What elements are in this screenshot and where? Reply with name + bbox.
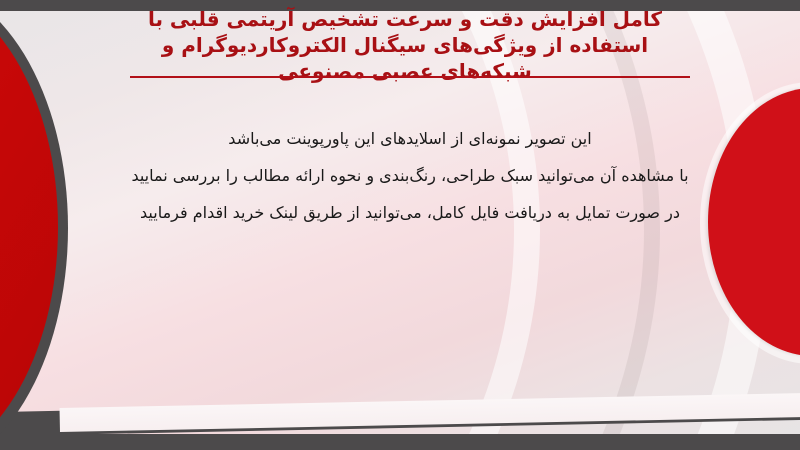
body-line-2: با مشاهده آن می‌توانید سبک طراحی، رنگ‌بن…	[60, 157, 760, 194]
slide-canvas: کامل افزایش دقت و سرعت تشخیص آریتمی قلبی…	[0, 0, 800, 450]
slide-title: کامل افزایش دقت و سرعت تشخیص آریتمی قلبی…	[60, 6, 750, 84]
title-line-1: کامل افزایش دقت و سرعت تشخیص آریتمی قلبی…	[60, 6, 750, 32]
slide-body: این تصویر نمونه‌ای از اسلایدهای این پاور…	[60, 120, 760, 231]
body-line-1: این تصویر نمونه‌ای از اسلایدهای این پاور…	[60, 120, 760, 157]
title-line-3: شبکه‌های عصبی مصنوعی	[60, 58, 750, 84]
body-line-3: در صورت تمایل به دریافت فایل کامل، می‌تو…	[60, 194, 760, 231]
title-underline-rule	[130, 76, 690, 78]
bottom-band	[0, 434, 800, 450]
title-line-2: استفاده از ویژگی‌های سیگنال الکتروکاردیو…	[60, 32, 750, 58]
